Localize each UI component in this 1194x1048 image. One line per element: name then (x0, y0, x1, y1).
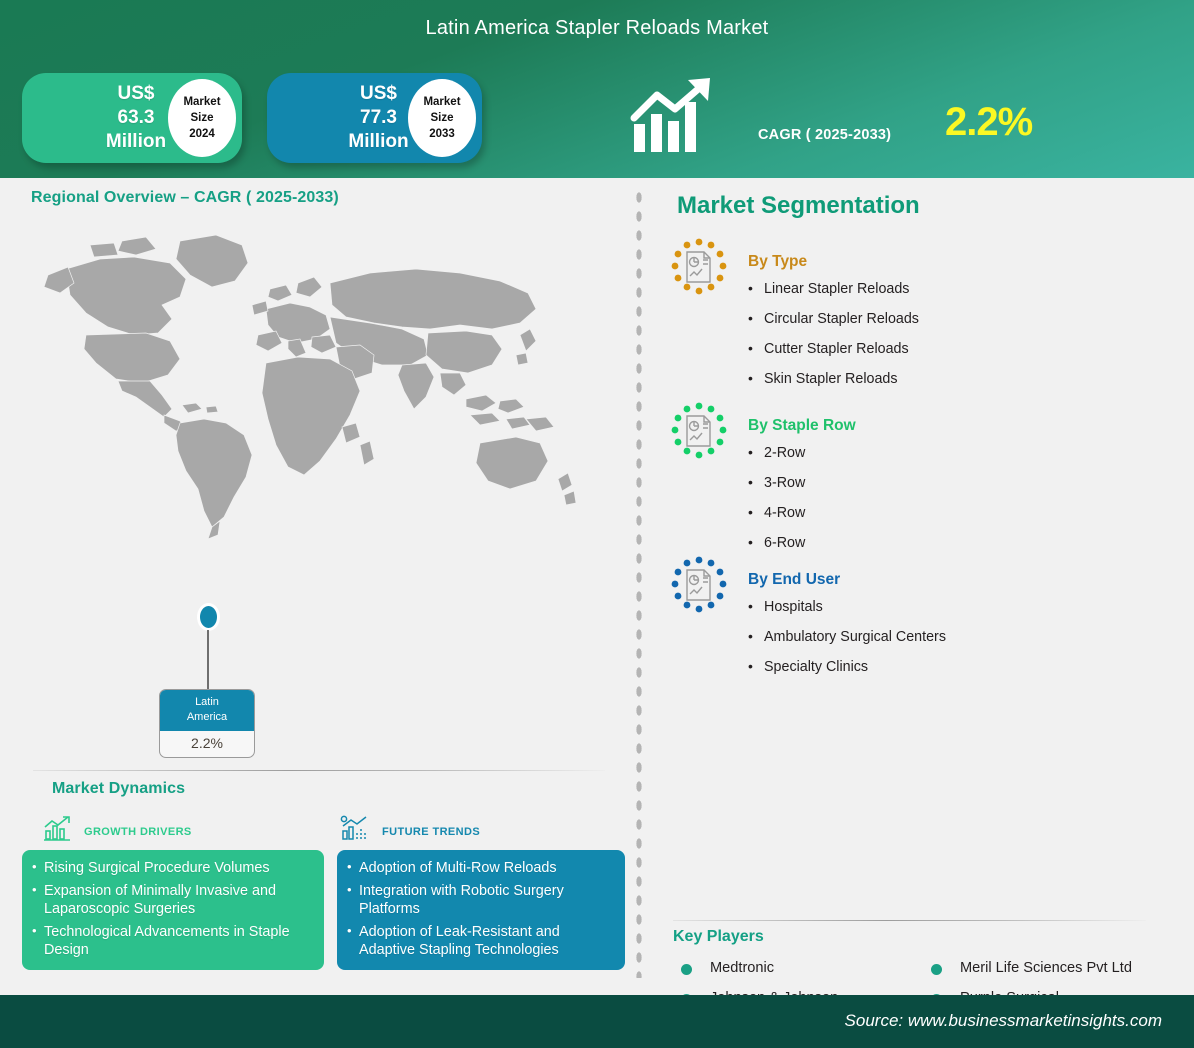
segment-label-by-staple-row: By Staple Row (748, 417, 856, 435)
infographic-canvas: Latin America Stapler Reloads Market US$… (0, 0, 1194, 1048)
list-item: Medtronic (678, 958, 933, 979)
list-item: Technological Advancements in Staple Des… (32, 923, 312, 960)
trend-chart-icon (340, 815, 370, 848)
bar-chart-arrow-up-icon (630, 78, 722, 161)
future-trends-box: Adoption of Multi-Row Reloads Integratio… (337, 850, 625, 970)
header-banner: Latin America Stapler Reloads Market US$… (0, 0, 1194, 178)
future-trends-header: FUTURE TRENDS (340, 815, 480, 848)
market-size-2024-badge: Market Size 2024 (168, 79, 236, 157)
future-trends-list: Adoption of Multi-Row Reloads Integratio… (347, 859, 613, 960)
list-item: Adoption of Multi-Row Reloads (347, 859, 613, 878)
list-item: Specialty Clinics (746, 658, 946, 677)
page-title: Latin America Stapler Reloads Market (0, 17, 1194, 40)
growth-drivers-header: GROWTH DRIVERS (42, 815, 192, 848)
market-segmentation-title: Market Segmentation (677, 192, 920, 220)
body-area: Regional Overview – CAGR ( 2025-2033) (0, 178, 1194, 995)
vertical-dotted-divider (634, 188, 644, 978)
segment-items-by-staple-row: 2-Row 3-Row 4-Row 6-Row (746, 444, 805, 564)
growth-drivers-box: Rising Surgical Procedure Volumes Expans… (22, 850, 324, 970)
divider-market-dynamics (33, 770, 605, 771)
key-players-title: Key Players (673, 928, 764, 946)
market-size-2024-card: US$ 63.3 Million Market Size 2024 (22, 73, 242, 163)
list-item: 3-Row (746, 474, 805, 493)
growth-chart-icon (42, 815, 72, 848)
divider-key-players (673, 920, 1146, 921)
growth-drivers-list: Rising Surgical Procedure Volumes Expans… (32, 859, 312, 960)
regional-overview-title: Regional Overview – CAGR ( 2025-2033) (31, 189, 339, 207)
list-item: Meril Life Sciences Pvt Ltd (928, 958, 1178, 979)
document-chart-icon (670, 556, 728, 614)
segment-items-by-type: Linear Stapler Reloads Circular Stapler … (746, 280, 919, 400)
tooltip-region-name: Latin America (160, 690, 254, 731)
segment-label-by-end-user: By End User (748, 571, 840, 589)
list-item: Skin Stapler Reloads (746, 370, 919, 389)
list-item: Linear Stapler Reloads (746, 280, 919, 299)
list-item: Ambulatory Surgical Centers (746, 628, 946, 647)
list-item: Expansion of Minimally Invasive and Lapa… (32, 882, 312, 919)
world-map (30, 223, 600, 563)
tooltip-cagr-value: 2.2% (160, 731, 254, 757)
market-size-2033-badge: Market Size 2033 (408, 79, 476, 157)
source-text: Source: www.businessmarketinsights.com (845, 1011, 1162, 1031)
list-item: 2-Row (746, 444, 805, 463)
list-item: Circular Stapler Reloads (746, 310, 919, 329)
document-chart-icon (670, 238, 728, 296)
list-item: 6-Row (746, 534, 805, 553)
list-item: Integration with Robotic Surgery Platfor… (347, 882, 613, 919)
segment-items-by-end-user: Hospitals Ambulatory Surgical Centers Sp… (746, 598, 946, 688)
list-item: 4-Row (746, 504, 805, 523)
market-dynamics-title: Market Dynamics (52, 780, 185, 798)
list-item: Adoption of Leak-Resistant and Adaptive … (347, 923, 613, 960)
market-size-2033-card: US$ 77.3 Million Market Size 2033 (267, 73, 482, 163)
list-item: Rising Surgical Procedure Volumes (32, 859, 312, 878)
list-item: Cutter Stapler Reloads (746, 340, 919, 359)
list-item: Hospitals (746, 598, 946, 617)
document-chart-icon (670, 402, 728, 460)
footer-bar: Source: www.businessmarketinsights.com (0, 995, 1194, 1048)
cagr-value: 2.2% (945, 100, 1032, 145)
segment-label-by-type: By Type (748, 253, 807, 271)
cagr-label: CAGR ( 2025-2033) (758, 127, 891, 143)
growth-drivers-label: GROWTH DRIVERS (84, 826, 192, 838)
right-panel: Market Segmentation (650, 178, 1194, 995)
map-pin-connector (207, 630, 209, 690)
map-pin-latin-america[interactable] (197, 603, 220, 631)
left-panel: Regional Overview – CAGR ( 2025-2033) (0, 178, 634, 995)
future-trends-label: FUTURE TRENDS (382, 826, 480, 838)
map-tooltip-latin-america: Latin America 2.2% (159, 689, 255, 758)
